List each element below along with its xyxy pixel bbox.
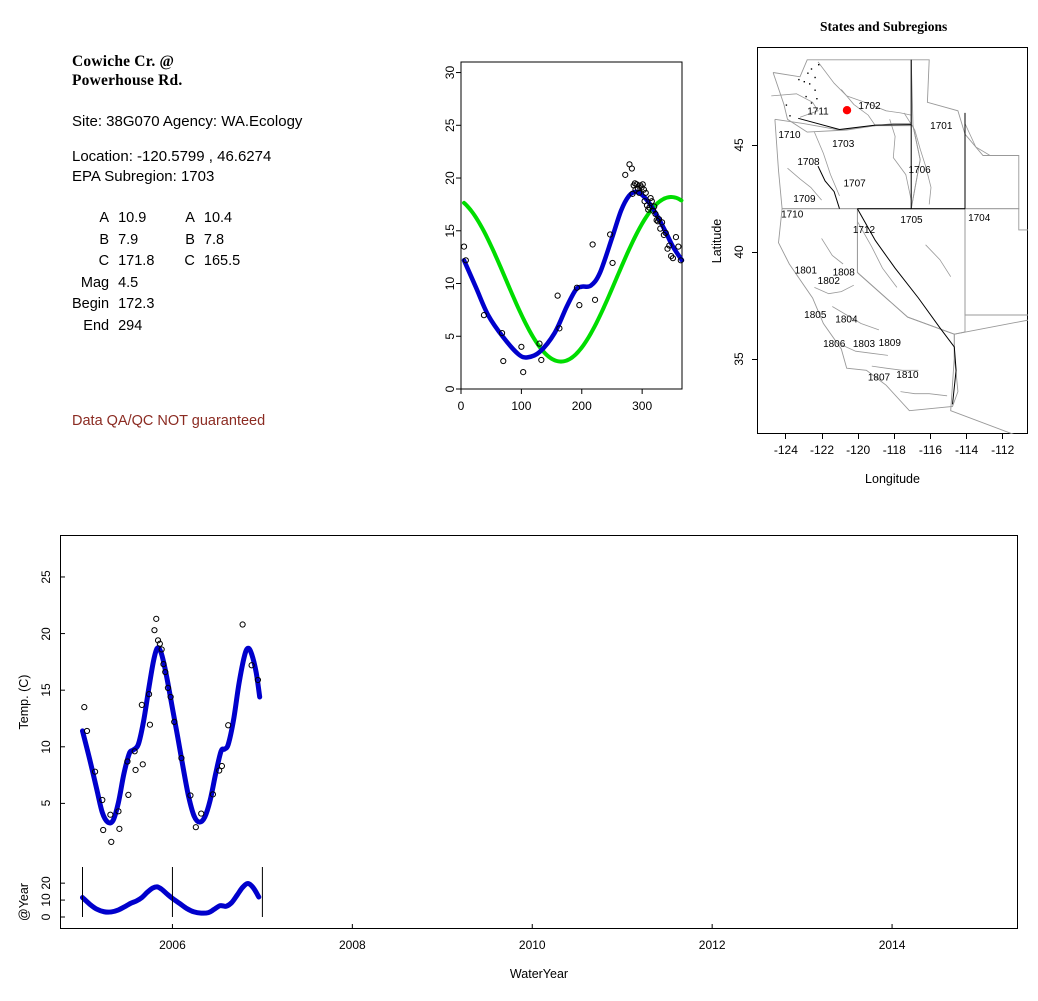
subregion-label: 1711: [807, 107, 829, 118]
table-row: A 10.9 A 10.4: [72, 208, 270, 230]
coast-detail: [798, 79, 799, 80]
data-point: [629, 166, 634, 171]
data-point: [193, 825, 198, 830]
param-value2: 165.5: [204, 251, 270, 273]
subregion-label: 1712: [853, 225, 876, 236]
ts-subpanel-ylabel: @Year: [17, 883, 31, 921]
param-value: 10.9: [118, 208, 184, 230]
param-key: End: [72, 316, 118, 338]
map-x-tick-label: -118: [883, 443, 906, 457]
data-point: [126, 792, 131, 797]
subregion-label: 1701: [930, 121, 953, 132]
map-y-tick: [752, 252, 757, 253]
coast-detail: [789, 115, 790, 116]
map-border: [758, 48, 1028, 434]
subregion-label: 1702: [858, 101, 881, 112]
data-point: [152, 628, 157, 633]
map-svg: 1711170217011710170317081706170717091710…: [757, 47, 1028, 434]
wateryear-timeseries-chart: [60, 535, 1018, 929]
data-point: [101, 827, 106, 832]
state-outline: [951, 315, 1028, 434]
y-tick-label: 25: [443, 118, 457, 132]
map-y-tick: [752, 359, 757, 360]
coast-detail: [804, 81, 805, 82]
map-x-tick-label: -114: [955, 443, 978, 457]
coast-detail: [814, 90, 815, 91]
map-x-tick: [785, 434, 786, 439]
subregion-label: 1706: [908, 165, 931, 176]
ts-y-tick-label: 20: [39, 627, 53, 640]
x-tick-label: 0: [458, 399, 465, 413]
data-point: [139, 702, 144, 707]
subregion-label: 1801: [795, 265, 818, 276]
data-point: [199, 811, 204, 816]
ts-subpanel-y-tick-label: 20: [39, 876, 53, 889]
subregion-boundary: [965, 124, 990, 156]
site-marker-dot: [843, 106, 851, 114]
param-key2: [184, 273, 203, 295]
blue-fit-curve: [464, 192, 682, 358]
y-tick-label: 5: [443, 333, 457, 340]
x-tick-label: 100: [511, 399, 531, 413]
subregion-boundary: [926, 245, 951, 277]
param-value2: 10.4: [204, 208, 270, 230]
map-x-tick: [930, 434, 931, 439]
seasonal-plot-svg: 0510152025300100200300: [415, 52, 688, 435]
site-info-block: Cowiche Cr. @ Powerhouse Rd. Site: 38G07…: [72, 52, 382, 337]
ts-y-tick-label: 25: [39, 570, 53, 583]
ts-y-tick-label: 10: [39, 740, 53, 753]
coast-detail: [809, 83, 810, 84]
map-x-tick: [822, 434, 823, 439]
param-key2: [184, 316, 203, 338]
param-key: Begin: [72, 294, 118, 316]
param-key: C: [72, 251, 118, 273]
subregion-label: 1802: [818, 276, 841, 287]
map-y-tick-label: 35: [732, 352, 746, 365]
state-outline: [965, 209, 1028, 315]
table-row: Begin 172.3: [72, 294, 270, 316]
data-point: [673, 235, 678, 240]
data-point: [117, 826, 122, 831]
y-tick-label: 0: [443, 385, 457, 392]
subregion-label: 1809: [879, 338, 902, 349]
subregion-label: 1703: [832, 139, 855, 150]
map-ylabel: Latitude: [710, 218, 724, 262]
subregion-label: 1705: [900, 215, 923, 226]
map-xlabel: Longitude: [865, 472, 920, 486]
data-point: [676, 244, 681, 249]
ts-x-tick-label: 2006: [159, 938, 186, 952]
map-y-tick: [752, 145, 757, 146]
param-key: B: [72, 230, 118, 252]
data-point: [140, 762, 145, 767]
ts-y-tick-label: 5: [39, 800, 53, 807]
param-value2: [204, 294, 270, 316]
y-tick-label: 20: [443, 171, 457, 185]
timeseries-svg: [60, 535, 1018, 929]
y-tick-label: 15: [443, 224, 457, 238]
data-point: [648, 195, 653, 200]
table-row: End 294: [72, 316, 270, 338]
ts-xlabel: WaterYear: [510, 967, 568, 981]
coast-detail: [816, 98, 817, 99]
subregion-label: 1704: [968, 213, 991, 224]
table-row: B 7.9 B 7.8: [72, 230, 270, 252]
states-subregions-map: 1711170217011710170317081706170717091710…: [757, 47, 1028, 434]
subregion-label: 1805: [804, 310, 827, 321]
site-title: Cowiche Cr. @ Powerhouse Rd.: [72, 52, 382, 90]
data-point: [226, 723, 231, 728]
plot-border: [61, 536, 1018, 929]
param-key2: C: [184, 251, 203, 273]
data-point: [590, 242, 595, 247]
y-tick-label: 30: [443, 66, 457, 80]
map-x-tick-label: -124: [774, 443, 798, 457]
ts-subpanel-y-tick-label: 10: [39, 893, 53, 906]
data-point: [501, 358, 506, 363]
coast-detail: [811, 68, 812, 69]
coast-detail: [786, 104, 787, 105]
param-value2: [204, 273, 270, 295]
map-x-tick: [1002, 434, 1003, 439]
parameter-table: A 10.9 A 10.4 B 7.9 B 7.8 C 171.8 C 165.…: [72, 208, 382, 337]
subregion-label: 1810: [896, 370, 919, 381]
subregion-label: 1806: [823, 339, 846, 350]
ts-x-tick-label: 2012: [699, 938, 726, 952]
subregion-label: 1707: [843, 178, 866, 189]
data-point: [109, 839, 114, 844]
ts-x-tick-label: 2014: [879, 938, 906, 952]
data-point: [592, 297, 597, 302]
map-x-tick: [858, 434, 859, 439]
map-x-tick-label: -116: [919, 443, 942, 457]
blue-fit-curve: [82, 648, 259, 823]
coast-detail: [814, 77, 815, 78]
x-tick-label: 200: [572, 399, 592, 413]
data-point: [555, 293, 560, 298]
ts-ylabel: Temp. (C): [17, 674, 31, 729]
data-point: [219, 763, 224, 768]
subregion-label: 1710: [781, 209, 804, 220]
data-point: [108, 812, 113, 817]
data-point: [610, 260, 615, 265]
map-title: States and Subregions: [820, 19, 947, 35]
data-point: [82, 705, 87, 710]
table-row: Mag 4.5: [72, 273, 270, 295]
plot-border: [461, 62, 682, 389]
qaqc-warning: Data QA/QC NOT guaranteed: [72, 413, 265, 429]
subregion-label: 1708: [797, 157, 820, 168]
seasonal-scatter-chart: 0510152025300100200300: [415, 52, 688, 435]
data-point: [577, 303, 582, 308]
map-x-tick: [966, 434, 967, 439]
data-point: [461, 244, 466, 249]
site-agency-line: Site: 38G070 Agency: WA.Ecology: [72, 112, 382, 131]
ts-y-tick-label: 15: [39, 683, 53, 696]
map-x-tick-label: -120: [846, 443, 870, 457]
data-point: [154, 616, 159, 621]
map-y-tick-label: 45: [732, 139, 746, 152]
data-point: [240, 622, 245, 627]
ts-subpanel-y-tick-label: 0: [39, 914, 53, 921]
data-point: [147, 722, 152, 727]
data-point: [133, 767, 138, 772]
ts-x-tick-label: 2010: [519, 938, 546, 952]
param-value: 294: [118, 316, 184, 338]
data-point: [521, 370, 526, 375]
param-key2: [184, 294, 203, 316]
ts-x-tick-label: 2008: [339, 938, 366, 952]
map-x-tick-label: -122: [810, 443, 834, 457]
param-value2: 7.8: [204, 230, 270, 252]
subregion-label: 1710: [778, 130, 801, 141]
table-row: C 171.8 C 165.5: [72, 251, 270, 273]
map-x-tick-label: -112: [991, 443, 1014, 457]
subregion-label: 1804: [835, 315, 858, 326]
data-point: [519, 344, 524, 349]
subregion-boundary: [822, 238, 844, 264]
param-value: 172.3: [118, 294, 184, 316]
data-point: [623, 172, 628, 177]
seasonal-component-curve: [82, 883, 258, 913]
data-point: [539, 357, 544, 362]
coast-detail: [805, 96, 806, 97]
param-key2: A: [184, 208, 203, 230]
param-key2: B: [184, 230, 203, 252]
location-line: Location: -120.5799 , 46.6274: [72, 147, 382, 166]
param-key: A: [72, 208, 118, 230]
x-tick-label: 300: [632, 399, 652, 413]
data-point: [84, 728, 89, 733]
subregion-label: 1807: [868, 373, 891, 384]
coast-detail: [818, 64, 819, 65]
epa-subregion-line: EPA Subregion: 1703: [72, 167, 382, 186]
map-y-tick-label: 40: [732, 246, 746, 259]
subregion-label: 1709: [793, 194, 816, 205]
green-sine-curve: [464, 197, 681, 362]
subregion-boundary: [904, 113, 931, 204]
subregion-label: 1803: [853, 339, 876, 350]
param-value: 4.5: [118, 273, 184, 295]
coast-detail: [811, 102, 812, 103]
subregion-boundary: [890, 119, 912, 200]
subregion-boundary: [901, 392, 948, 396]
param-key: Mag: [72, 273, 118, 295]
param-value2: [204, 316, 270, 338]
coast-detail: [807, 73, 808, 74]
param-value: 7.9: [118, 230, 184, 252]
map-x-tick: [894, 434, 895, 439]
param-value: 171.8: [118, 251, 184, 273]
y-tick-label: 10: [443, 277, 457, 291]
